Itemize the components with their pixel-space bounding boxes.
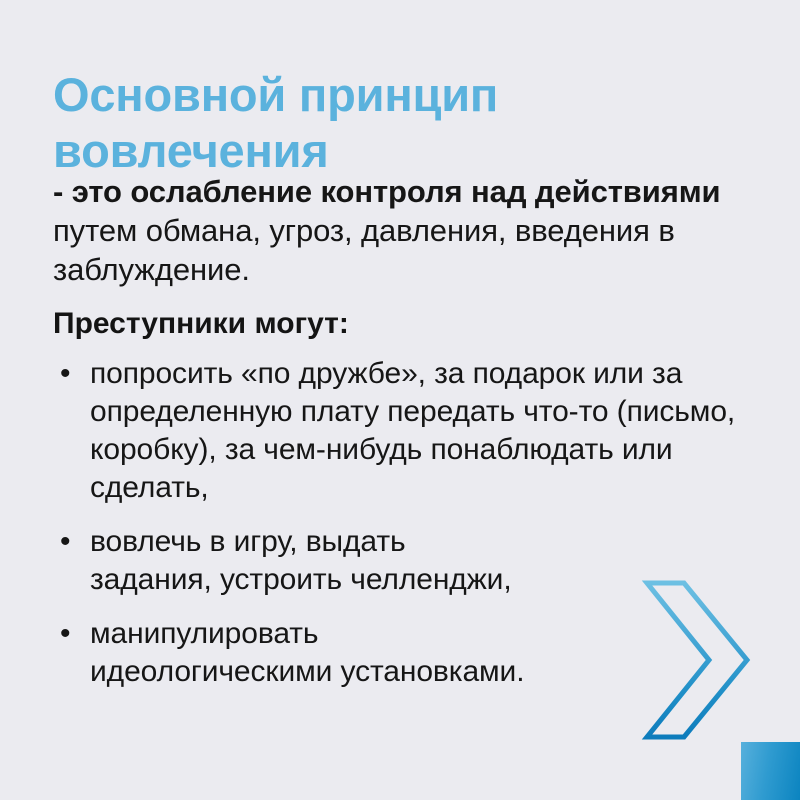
list-item: • попросить «по дружбе», за подарок или … <box>53 355 765 507</box>
list-item-label: попросить «по дружбе», за подарок или за… <box>90 355 765 507</box>
list-item-label: манипулировать идеологическими установка… <box>90 615 690 691</box>
lead-paragraph: - это ослабление контроля над действиями… <box>53 172 765 289</box>
page-title: Основной принцип вовлечения <box>53 67 753 179</box>
lead-bold-text: - это ослабление контроля над действиями <box>53 174 721 209</box>
bullet-marker-icon: • <box>60 523 70 561</box>
list-item: • вовлечь в игру, выдать задания, устрои… <box>53 523 765 599</box>
list-item-label: вовлечь в игру, выдать задания, устроить… <box>90 523 650 599</box>
list-item: • манипулировать идеологическими установ… <box>53 615 765 691</box>
lead-regular-text: путем обмана, угроз, давления, введения … <box>53 213 675 287</box>
bullet-marker-icon: • <box>60 355 70 393</box>
subheading: Преступники могут: <box>53 305 765 343</box>
bullet-marker-icon: • <box>60 615 70 653</box>
slide-body: - это ослабление контроля над действиями… <box>53 172 765 691</box>
corner-accent-square <box>741 742 800 800</box>
slide-canvas: Основной принцип вовлечения - это ослабл… <box>0 0 800 800</box>
bullet-list: • попросить «по дружбе», за подарок или … <box>53 355 765 691</box>
